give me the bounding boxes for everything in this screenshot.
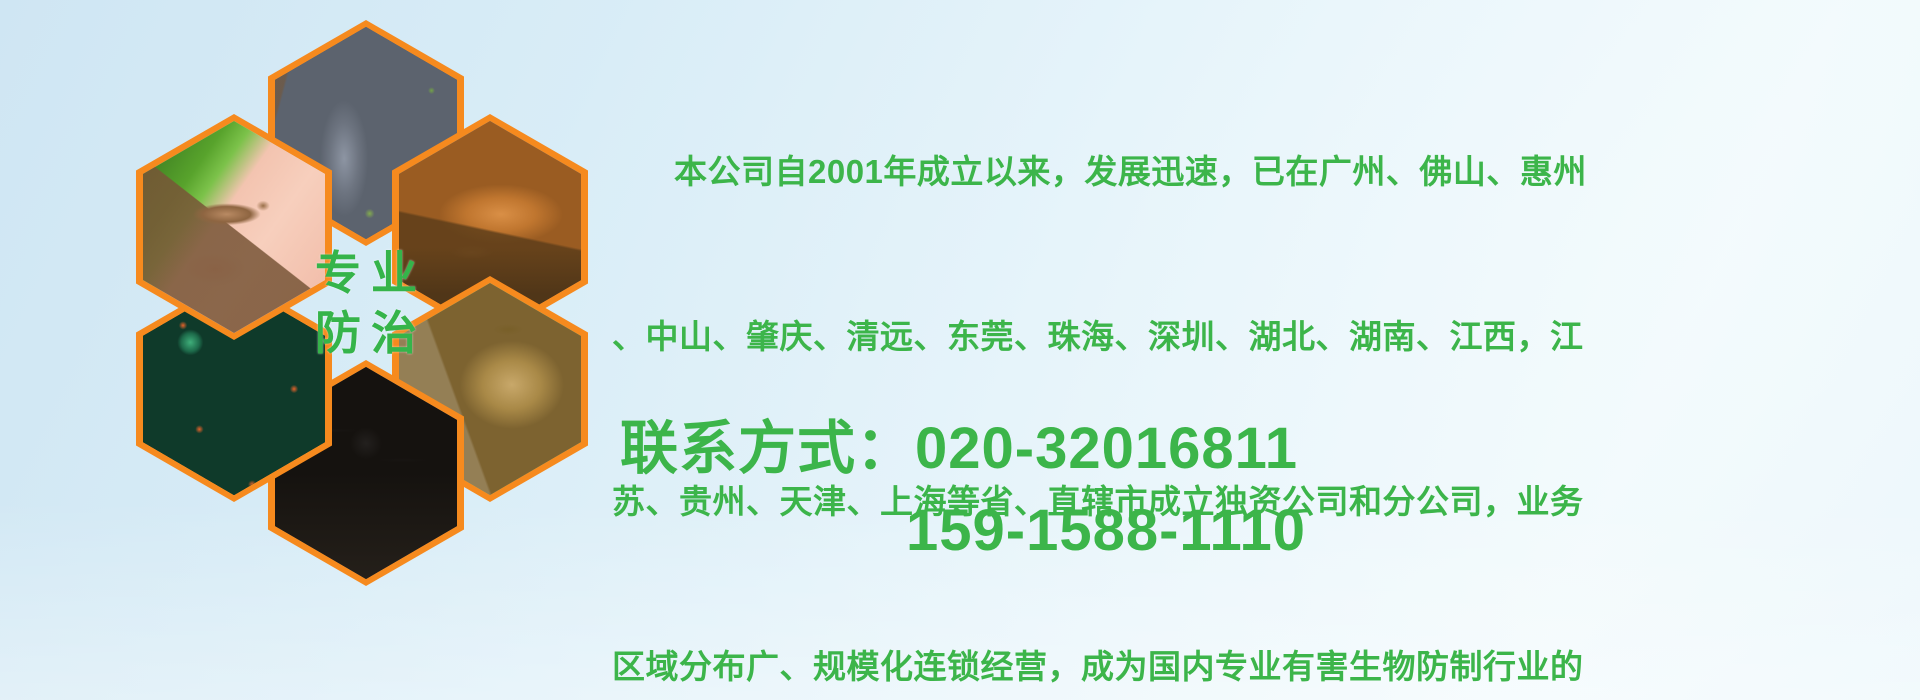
about-line-4: 区域分布广、规模化连锁经营，成为国内专业有害生物防制行业的: [612, 639, 1882, 694]
contact-phone-primary[interactable]: 020-32016811: [915, 416, 1298, 481]
about-company-paragraph: 本公司自2001年成立以来，发展迅速，已在广州、佛山、惠州 、中山、肇庆、清远、…: [612, 34, 1882, 700]
logo-center-text: 专业 防治: [268, 190, 464, 416]
contact-block: 联系方式：020-32016811 159-1588-1110: [620, 408, 1890, 572]
pest-control-banner: 专业 防治 本公司自2001年成立以来，发展迅速，已在广州、佛山、惠州 、中山、…: [0, 0, 1920, 700]
contact-label: 联系方式：: [620, 416, 915, 481]
about-line-1: 本公司自2001年成立以来，发展迅速，已在广州、佛山、惠州: [612, 144, 1882, 199]
about-line-2: 、中山、肇庆、清远、东莞、珠海、深圳、湖北、湖南、江西，江: [612, 309, 1882, 364]
logo-text-line-2: 防治: [305, 310, 427, 356]
about-company-block: 本公司自2001年成立以来，发展迅速，已在广州、佛山、惠州 、中山、肇庆、清远、…: [612, 34, 1882, 700]
contact-secondary-line: 159-1588-1110: [620, 490, 1890, 572]
contact-phone-secondary[interactable]: 159-1588-1110: [906, 498, 1306, 563]
contact-primary-line: 联系方式：020-32016811: [620, 408, 1890, 490]
logo-text-line-1: 专业: [305, 250, 427, 296]
hexagon-photo-collage: 专业 防治: [96, 8, 596, 568]
